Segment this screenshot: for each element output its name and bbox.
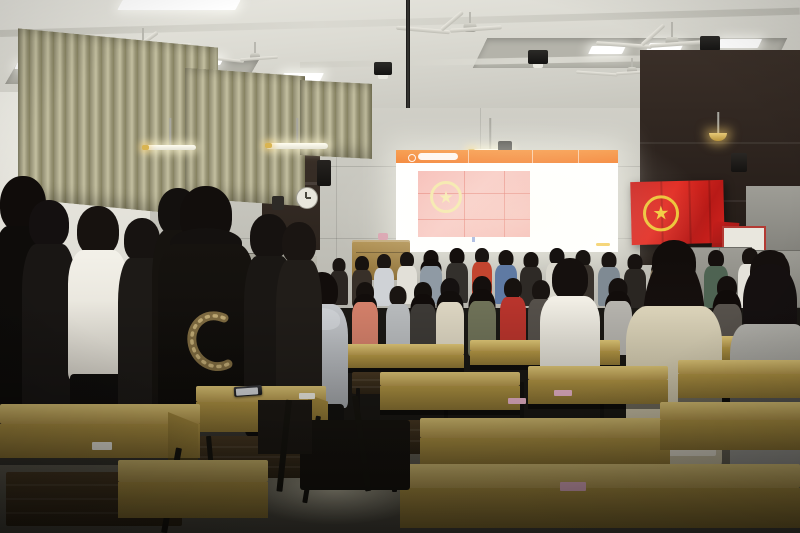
student-mid-1 — [352, 282, 378, 348]
slide-header-bar — [396, 150, 618, 163]
smartphone-on-desk[interactable] — [234, 385, 263, 397]
ceiling-fan-far — [226, 42, 284, 68]
hoodie-graphic-c-icon — [182, 304, 238, 376]
tube-lamp-left — [142, 118, 198, 158]
desk-row-front-rightmost — [400, 464, 800, 533]
league-star-emblem-icon: ★ — [643, 195, 680, 232]
slide-body: ★ — [396, 163, 618, 252]
student-mid-2 — [386, 286, 410, 348]
podium-object — [378, 233, 388, 240]
slide-flag-graphic: ★ — [418, 171, 530, 237]
communist-youth-league-flag: ★ — [630, 180, 725, 245]
desk-label-white-left — [299, 393, 315, 399]
tube-lamp-front — [265, 118, 329, 162]
desk-front-left-lower — [118, 460, 268, 533]
desk-label-pink-right-upper — [554, 390, 572, 396]
ceiling-fan-center — [430, 12, 510, 46]
desk-label-pink-front — [560, 482, 586, 491]
projection-screen: ★ — [396, 150, 618, 252]
slide-header-pill — [418, 153, 458, 160]
dome-lamp-right — [707, 112, 729, 146]
student-cream-top — [436, 278, 464, 352]
desk-row-mid-right — [528, 366, 668, 422]
wall-speaker-left-icon — [317, 160, 331, 186]
slide-accent-mark — [596, 243, 610, 246]
ceiling-speaker-a-icon — [374, 62, 392, 75]
slide-star-emblem-icon: ★ — [430, 181, 462, 213]
search-icon — [408, 154, 416, 162]
ceiling-speaker-b-icon — [528, 50, 548, 64]
bench-shadow-center — [300, 420, 410, 490]
slide-cursor-dot — [472, 237, 475, 242]
desk-label-pink-mid — [508, 398, 526, 404]
wall-clock — [296, 187, 318, 209]
ceiling-panel-light-7 — [716, 39, 762, 48]
ceiling-panel-light-5 — [588, 46, 626, 54]
classroom-assembly-photo: ★ ★ — [0, 0, 800, 533]
student-mid-3 — [410, 282, 436, 350]
ceiling-speaker-c-icon — [700, 36, 720, 51]
wall-phone-icon — [272, 196, 284, 210]
desk-label-white-front — [92, 442, 112, 450]
ceiling-panel-light-1 — [117, 0, 240, 10]
wall-speaker-right-upper-icon — [731, 153, 747, 172]
desk-row-right-front — [660, 402, 800, 464]
